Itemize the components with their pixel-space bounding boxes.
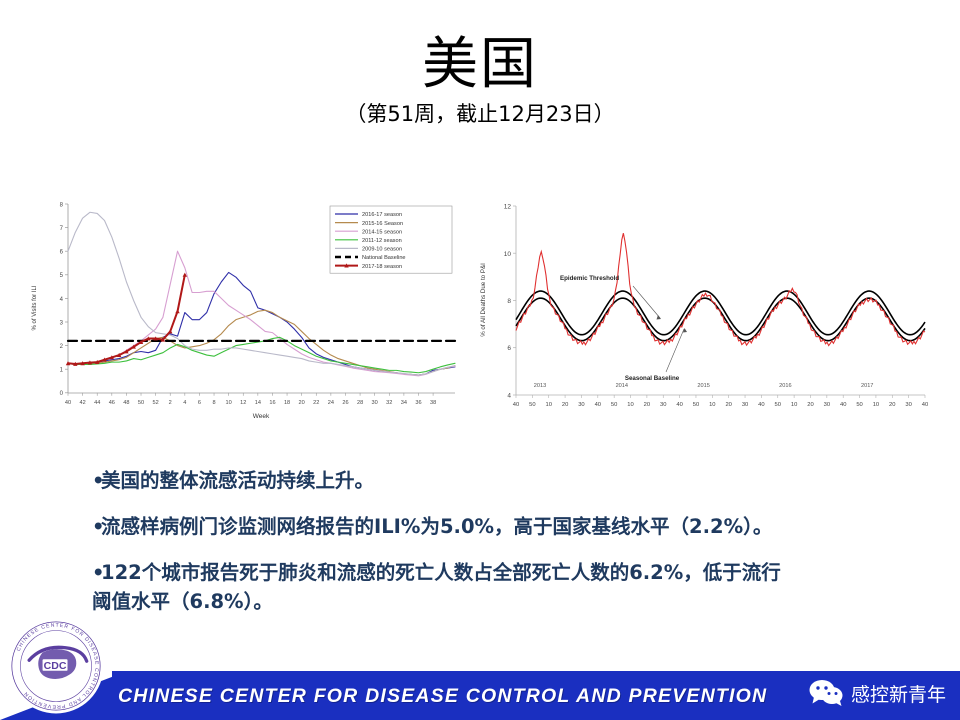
pi-x-tick: 40	[676, 402, 682, 408]
seasonal-baseline-annotation: Seasonal Baseline	[625, 375, 680, 382]
list-item: •美国的整体流感活动持续上升。	[92, 466, 792, 495]
ili-x-tick: 34	[401, 400, 407, 406]
pi-x-tick: 30	[742, 402, 748, 408]
pi-year-label: 2017	[861, 383, 873, 389]
pi-x-tick: 50	[611, 402, 617, 408]
svg-text:12: 12	[504, 204, 512, 211]
pi-x-tick: 30	[578, 402, 584, 408]
ili-x-tick: 30	[372, 400, 378, 406]
ili-x-tick: 44	[94, 400, 100, 406]
pi-y-axis-label: % of All Deaths Due to P&I	[480, 263, 487, 337]
pi-x-tick: 10	[791, 402, 797, 408]
bullet-text: 美国的整体流感活动持续上升。	[101, 469, 374, 492]
ili-x-tick: 8	[212, 400, 215, 406]
bullet-dot-icon: •	[92, 512, 101, 541]
pi-mortality-chart: 1210 864 % of All Deaths Due to P&I 4050…	[470, 190, 940, 435]
pi-x-tick: 40	[840, 402, 846, 408]
ili-x-tick: 20	[299, 400, 305, 406]
wechat-account: 感控新青年	[809, 676, 946, 710]
ili-x-tick: 42	[79, 400, 85, 406]
bullet-text: 122个城市报告死于肺炎和流感的死亡人数占全部死亡人数的6.2%，低于流行阈值水…	[92, 561, 781, 613]
list-item: •122个城市报告死于肺炎和流感的死亡人数占全部死亡人数的6.2%，低于流行阈值…	[92, 558, 792, 616]
pi-year-label: 2014	[616, 383, 628, 389]
charts-container: 876 543 210 % of Visits for ILI 40424446…	[0, 190, 960, 440]
pi-x-tick: 50	[856, 402, 862, 408]
ili-x-tick: 40	[65, 400, 71, 406]
svg-text:6: 6	[507, 345, 511, 352]
pi-year-label: 2013	[534, 383, 546, 389]
cdc-logo: CHINESE CENTER FOR DISEASE CONTROL AND P…	[8, 618, 104, 714]
ili-x-tick: 48	[123, 400, 129, 406]
bullet-list: •美国的整体流感活动持续上升。 •流感样病例门诊监测网络报告的ILI%为5.0%…	[92, 466, 792, 633]
pi-x-tick: 50	[775, 402, 781, 408]
pi-x-tick: 20	[644, 402, 650, 408]
legend-label: 2014-15 season	[362, 229, 402, 235]
ili-x-tick: 46	[109, 400, 115, 406]
pi-x-tick: 10	[873, 402, 879, 408]
legend-label: 2016-17 season	[362, 212, 402, 218]
organization-name: CHINESE CENTER FOR DISEASE CONTROL AND P…	[118, 685, 767, 708]
pi-x-tick: 40	[513, 402, 519, 408]
page-subtitle: （第51周，截止12月23日）	[0, 100, 960, 128]
pi-year-label: 2016	[779, 383, 791, 389]
ili-x-tick: 28	[357, 400, 363, 406]
wechat-icon	[809, 679, 843, 707]
ili-x-tick: 4	[183, 400, 186, 406]
pi-x-tick: 30	[905, 402, 911, 408]
ili-chart-svg: 876 543 210 % of Visits for ILI 40424446…	[18, 190, 468, 440]
pi-x-tick: 40	[595, 402, 601, 408]
ili-x-tick: 18	[284, 400, 290, 406]
ili-x-tick: 16	[269, 400, 275, 406]
ili-x-tick: 52	[153, 400, 159, 406]
pi-x-tick: 20	[562, 402, 568, 408]
pi-x-tick: 10	[545, 402, 551, 408]
pi-x-tick: 10	[627, 402, 633, 408]
ili-y-axis-label: % of Visits for ILI	[32, 285, 38, 330]
pi-year-label: 2015	[697, 383, 709, 389]
ili-x-tick: 10	[226, 400, 232, 406]
cdc-seal-abbr: CDC	[44, 660, 67, 672]
wechat-label: 感控新青年	[851, 680, 946, 707]
pi-x-tick: 50	[693, 402, 699, 408]
ili-x-tick: 38	[430, 400, 436, 406]
ili-x-tick: 14	[255, 400, 261, 406]
ili-x-tick: 22	[313, 400, 319, 406]
pi-x-tick: 20	[807, 402, 813, 408]
svg-text:8: 8	[507, 298, 511, 305]
legend-label: 2009-10 season	[362, 247, 402, 253]
legend-label: 2015-16 Season	[362, 221, 403, 227]
pi-x-tick: 30	[824, 402, 830, 408]
legend-label: National Baseline	[362, 255, 406, 261]
bullet-dot-icon: •	[92, 466, 101, 495]
ili-chart: 876 543 210 % of Visits for ILI 40424446…	[18, 190, 468, 440]
ili-x-tick: 6	[198, 400, 201, 406]
svg-text:4: 4	[507, 393, 511, 400]
epidemic-threshold-annotation: Epidemic Threshold	[560, 275, 619, 282]
bullet-text: 流感样病例门诊监测网络报告的ILI%为5.0%，高于国家基线水平（2.2%）。	[101, 515, 772, 538]
ili-x-axis-label: Week	[253, 413, 270, 420]
ili-x-tick: 12	[240, 400, 246, 406]
pi-x-tick: 40	[758, 402, 764, 408]
ili-x-tick: 24	[328, 400, 334, 406]
ili-legend: 2016-17 season2015-16 Season2014-15 seas…	[330, 206, 452, 273]
pi-mortality-chart-svg: 1210 864 % of All Deaths Due to P&I 4050…	[470, 190, 940, 435]
legend-label: 2017-18 season	[362, 264, 402, 270]
ili-x-tick: 32	[386, 400, 392, 406]
ili-x-tick: 50	[138, 400, 144, 406]
pi-x-tick: 40	[922, 402, 928, 408]
ili-x-tick: 26	[342, 400, 348, 406]
pi-x-tick: 30	[660, 402, 666, 408]
svg-text:10: 10	[504, 251, 512, 258]
ili-x-tick: 36	[415, 400, 421, 406]
pi-x-tick: 20	[889, 402, 895, 408]
pi-x-tick: 10	[709, 402, 715, 408]
legend-label: 2011-12 season	[362, 238, 402, 244]
ili-x-tick: 2	[169, 400, 172, 406]
pi-x-tick: 20	[725, 402, 731, 408]
list-item: •流感样病例门诊监测网络报告的ILI%为5.0%，高于国家基线水平（2.2%）。	[92, 512, 792, 541]
title-block: 美国 （第51周，截止12月23日）	[0, 34, 960, 128]
bullet-dot-icon: •	[92, 558, 101, 587]
footer-bar: CHINESE CENTER FOR DISEASE CONTROL AND P…	[0, 671, 960, 720]
page-title: 美国	[0, 34, 960, 96]
pi-x-tick: 50	[529, 402, 535, 408]
